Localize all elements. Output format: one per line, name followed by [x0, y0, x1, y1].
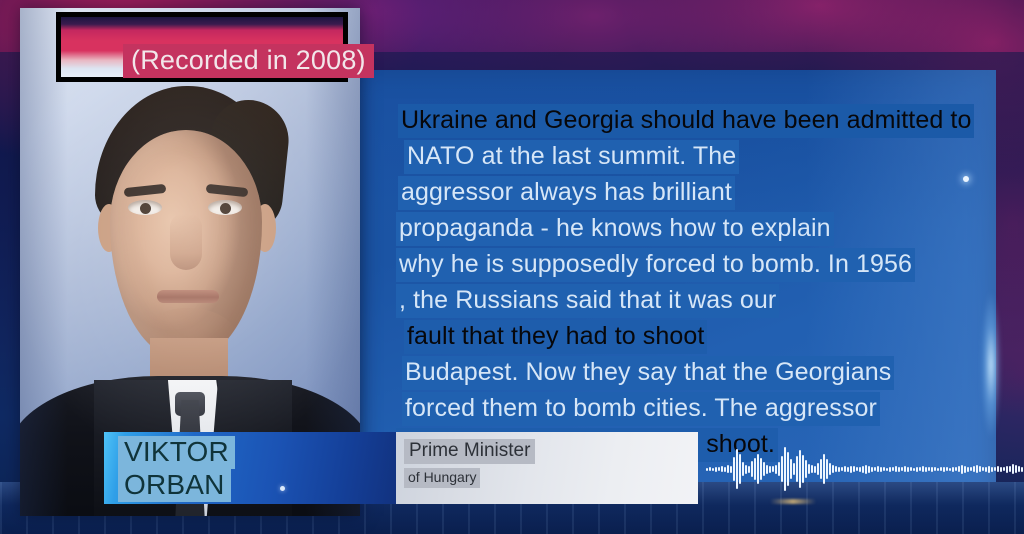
waveform-bar [1021, 467, 1023, 472]
waveform-bar [799, 450, 801, 488]
waveform-bar [898, 467, 900, 472]
waveform-bar [940, 467, 942, 471]
quote-line: forced them to bomb cities. The aggresso… [402, 392, 880, 426]
waveform-bar [943, 467, 945, 472]
waveform-bar [871, 467, 873, 472]
waveform-bar [964, 466, 966, 473]
waveform-bar [934, 467, 936, 471]
waveform-bar [790, 459, 792, 479]
waveform-bar [958, 466, 960, 472]
waveform-bar [754, 458, 756, 480]
waveform-bar [850, 466, 852, 473]
waveform-bar [895, 466, 897, 472]
waveform-bar [745, 465, 747, 474]
quote-line: why he is supposedly forced to bomb. In … [396, 248, 915, 282]
waveform-bar [973, 466, 975, 472]
audio-waveform-icon [706, 443, 994, 495]
waveform-bar [718, 467, 720, 471]
waveform-bar [997, 466, 999, 472]
waveform-bar [952, 467, 954, 472]
waveform-bar [928, 467, 930, 471]
speaker-name: VIKTOR ORBAN [118, 436, 235, 502]
waveform-bar [961, 465, 963, 474]
quote-line: Ukraine and Georgia should have been adm… [398, 104, 974, 138]
waveform-bar [844, 466, 846, 472]
waveform-bar [868, 466, 870, 473]
waveform-bar [826, 459, 828, 479]
waveform-bar [829, 463, 831, 475]
waveform-bar [886, 468, 888, 471]
waveform-bar [835, 466, 837, 472]
lower-third-banner: VIKTOR ORBAN Prime Minister of Hungary [104, 432, 698, 504]
waveform-bar [865, 465, 867, 474]
waveform-bar [991, 467, 993, 472]
waveform-bar [988, 466, 990, 473]
waveform-bar [1015, 465, 1017, 473]
floor-glint [770, 499, 816, 504]
waveform-bar [847, 467, 849, 472]
waveform-bar [751, 461, 753, 477]
waveform-bar [787, 452, 789, 486]
recorded-note-label: (Recorded in 2008) [123, 44, 374, 78]
waveform-bar [892, 467, 894, 471]
waveform-bar [769, 466, 771, 473]
waveform-bar [733, 457, 735, 481]
waveform-bar [901, 467, 903, 471]
waveform-bar [877, 466, 879, 472]
waveform-bar [721, 466, 723, 472]
waveform-bar [883, 467, 885, 471]
waveform-bar [889, 467, 891, 472]
waveform-bar [811, 465, 813, 473]
banner-light-dot-icon [280, 486, 285, 491]
waveform-bar [946, 467, 948, 471]
waveform-bar [859, 467, 861, 472]
waveform-bar [715, 467, 717, 472]
waveform-bar [880, 467, 882, 472]
waveform-bar [931, 467, 933, 472]
waveform-bar [982, 467, 984, 471]
waveform-bar [925, 467, 927, 472]
quote-line: , the Russians said that it was our [396, 284, 779, 318]
speaker-last-name: ORBAN [118, 469, 231, 502]
waveform-bar [979, 466, 981, 472]
waveform-bar [784, 447, 786, 491]
waveform-bar [841, 467, 843, 471]
waveform-bar [919, 467, 921, 471]
waveform-bar [985, 467, 987, 472]
waveform-bar [1003, 467, 1005, 471]
quote-line: Budapest. Now they say that the Georgian… [402, 356, 894, 390]
waveform-bar [913, 468, 915, 471]
recorded-note-box: (Recorded in 2008) [56, 12, 348, 82]
waveform-bar [796, 456, 798, 482]
waveform-bar [727, 465, 729, 473]
waveform-bar [823, 454, 825, 484]
waveform-bar [817, 463, 819, 475]
waveform-bar [763, 462, 765, 476]
waveform-bar [775, 465, 777, 474]
quote-line: fault that they had to shoot [404, 320, 707, 354]
waveform-bar [778, 462, 780, 476]
waveform-bar [949, 468, 951, 471]
waveform-bar [739, 454, 741, 484]
waveform-bar [766, 465, 768, 474]
speaker-title: Prime Minister [404, 439, 535, 464]
waveform-bar [724, 467, 726, 472]
waveform-bar [709, 467, 711, 471]
waveform-bar [967, 467, 969, 472]
waveform-bar [820, 459, 822, 479]
waveform-bar [907, 467, 909, 472]
quote-line: aggressor always has brilliant [398, 176, 735, 210]
waveform-bar [1012, 464, 1014, 474]
waveform-bar [910, 467, 912, 471]
lower-third-title-panel: Prime Minister of Hungary [396, 432, 698, 504]
waveform-bar [742, 462, 744, 476]
waveform-bar [1009, 466, 1011, 472]
waveform-bar [1000, 467, 1002, 472]
waveform-bar [736, 449, 738, 489]
quote-line: propaganda - he knows how to explain [396, 212, 834, 246]
waveform-bar [814, 466, 816, 473]
waveform-bar [748, 466, 750, 473]
waveform-bar [706, 468, 708, 471]
quote-line: NATO at the last summit. The [404, 140, 739, 174]
waveform-bar [805, 460, 807, 478]
quote-text-block: Ukraine and Georgia should have been adm… [398, 104, 998, 464]
waveform-bar [994, 467, 996, 471]
lower-third-name-panel: VIKTOR ORBAN [104, 432, 396, 504]
waveform-bar [853, 466, 855, 472]
waveform-bar [802, 455, 804, 483]
waveform-bar [937, 468, 939, 471]
waveform-bar [955, 467, 957, 471]
waveform-bar [1006, 466, 1008, 473]
waveform-bar [904, 466, 906, 472]
waveform-bar [916, 467, 918, 472]
waveform-bar [976, 465, 978, 473]
waveform-bar [970, 467, 972, 471]
speaker-first-name: VIKTOR [118, 436, 235, 469]
waveform-bar [772, 466, 774, 472]
waveform-bar [757, 454, 759, 484]
waveform-bar [874, 467, 876, 471]
broadcast-screenshot: (Recorded in 2008) Ukraine and Georgia s… [0, 0, 1024, 534]
waveform-bar [922, 466, 924, 472]
waveform-bar [760, 458, 762, 480]
speaker-subtitle: of Hungary [404, 468, 480, 488]
waveform-bar [793, 463, 795, 475]
waveform-bar [808, 464, 810, 474]
waveform-bar [856, 467, 858, 471]
waveform-bar [838, 467, 840, 472]
waveform-bar [1018, 466, 1020, 472]
waveform-bar [712, 468, 714, 471]
waveform-bar [862, 466, 864, 473]
waveform-bar [832, 465, 834, 473]
waveform-bar [781, 456, 783, 482]
waveform-bar [730, 466, 732, 473]
